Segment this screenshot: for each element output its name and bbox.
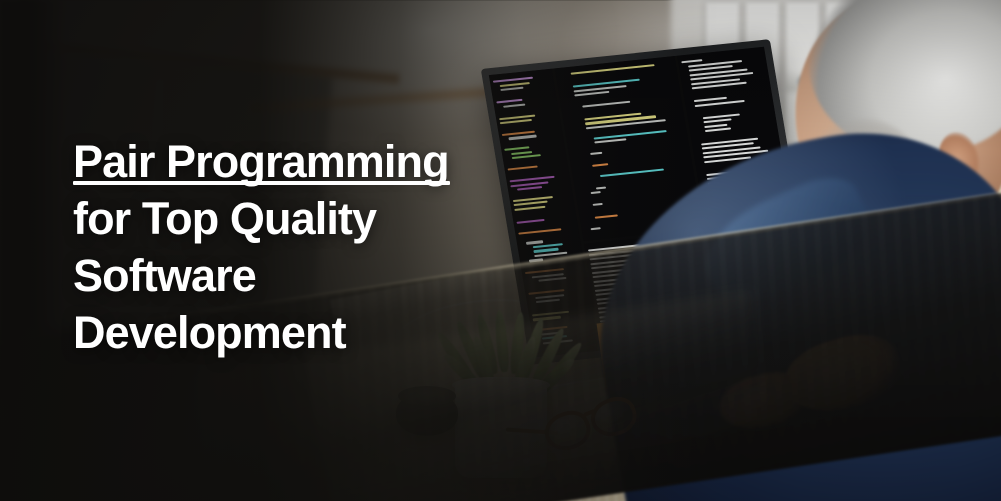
- headline-line-4: Development: [73, 304, 543, 361]
- article-banner: Pair Programming for Top Quality Softwar…: [0, 0, 1001, 501]
- headline-line-1: Pair Programming: [73, 133, 449, 190]
- page-title: Pair Programming for Top Quality Softwar…: [73, 133, 543, 361]
- headline-line-2: for Top Quality: [73, 190, 543, 247]
- headline-line-3: Software: [73, 247, 543, 304]
